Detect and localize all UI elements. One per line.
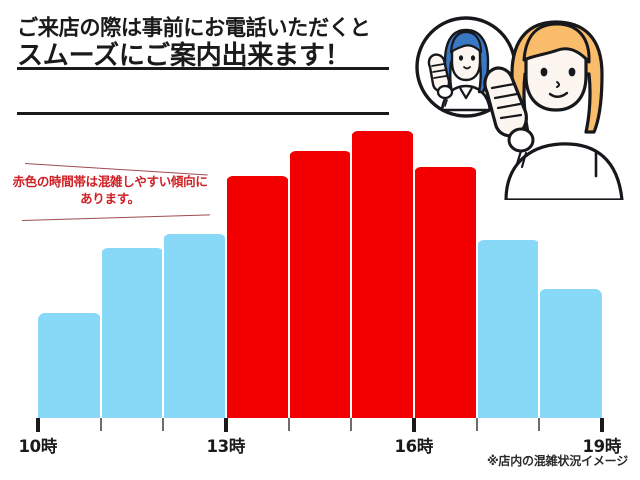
- bar-18時: [539, 289, 602, 418]
- bar-separator: [288, 151, 290, 418]
- bar-10時: [38, 313, 101, 418]
- bar-13時: [226, 176, 289, 418]
- x-axis-tick-major: [224, 418, 228, 432]
- bar-separator: [350, 131, 352, 418]
- bar-separator: [476, 167, 478, 418]
- illustration-woman-on-phone: [400, 0, 640, 200]
- bar-separator: [100, 248, 102, 418]
- x-axis-ticks: [0, 418, 640, 434]
- footnote-text: ※店内の混雑状況イメージ: [487, 452, 628, 469]
- bar-11時: [101, 248, 164, 418]
- poster-root: ご来店の際は事前にお電話いただくと スムーズにご案内出来ます！ 赤色の時間帯は混…: [0, 0, 640, 480]
- x-axis-label-13時: 13時: [207, 433, 246, 457]
- bar-separator: [538, 240, 540, 418]
- x-axis-tick-major: [412, 418, 416, 432]
- x-axis-tick-minor: [100, 418, 102, 431]
- bar-separator: [225, 176, 227, 418]
- bar-separator: [162, 234, 164, 418]
- x-axis-tick-minor: [162, 418, 164, 431]
- x-axis-tick-major: [36, 418, 40, 432]
- bar-17時: [477, 240, 540, 418]
- x-axis-tick-major: [600, 418, 604, 432]
- bar-14時: [289, 151, 352, 418]
- x-axis-tick-minor: [476, 418, 478, 431]
- x-axis-label-10時: 10時: [19, 433, 58, 457]
- x-axis-label-16時: 16時: [395, 433, 434, 457]
- bar-12時: [163, 234, 226, 418]
- x-axis-tick-minor: [538, 418, 540, 431]
- bar-16時: [414, 167, 477, 418]
- x-axis-tick-minor: [288, 418, 290, 431]
- x-axis-tick-minor: [350, 418, 352, 431]
